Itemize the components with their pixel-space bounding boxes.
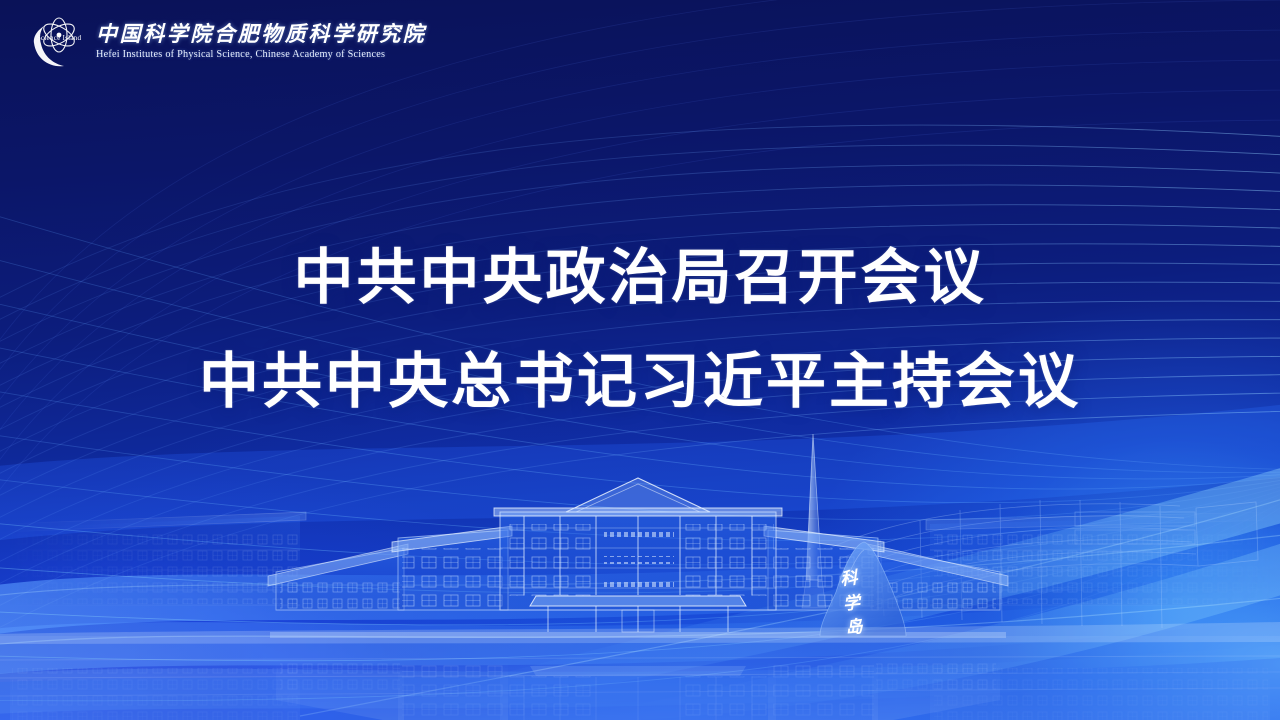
rock-inscription: 科 学 岛 xyxy=(839,564,881,641)
institute-name-cn: 中国科学院合肥物质科学研究院 xyxy=(96,22,426,46)
institute-name-en: Hefei Institutes of Physical Science, Ch… xyxy=(96,49,426,60)
campus-illustration xyxy=(0,420,1280,720)
slide-header: Science Island 中国科学院合肥物质科学研究院 Hefei Inst… xyxy=(0,0,1280,84)
institute-logo: Science Island 中国科学院合肥物质科学研究院 Hefei Inst… xyxy=(28,13,426,69)
inscribed-rock xyxy=(820,542,906,636)
left-wing xyxy=(4,512,306,605)
water-reflection xyxy=(10,662,1270,720)
title-line-1: 中共中央政治局召开会议 xyxy=(0,248,1280,308)
slide-title-block: 中共中央政治局召开会议 中共中央总书记习近平主持会议 xyxy=(0,248,1280,412)
presentation-slide: Science Island 中国科学院合肥物质科学研究院 Hefei Inst… xyxy=(0,0,1280,720)
rock-char-3: 岛 xyxy=(844,613,880,641)
logo-badge-text: Science Island xyxy=(37,34,82,42)
science-island-atom-logo-icon: Science Island xyxy=(28,13,90,69)
rock-char-2: 学 xyxy=(842,589,878,617)
spire-tower xyxy=(802,434,826,608)
rock-char-1: 科 xyxy=(839,564,875,592)
right-wing xyxy=(926,512,1274,605)
main-building xyxy=(268,478,1008,638)
title-line-2: 中共中央总书记习近平主持会议 xyxy=(0,352,1280,412)
